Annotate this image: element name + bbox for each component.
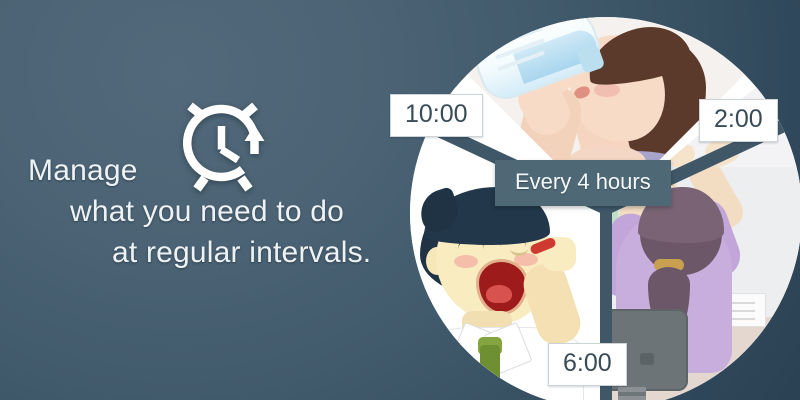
headline-line-2: what you need to do	[0, 191, 400, 232]
time-label-2-00: 2:00	[699, 99, 778, 142]
time-label-10-00: 10:00	[390, 94, 483, 137]
headline-line-3: at regular intervals.	[0, 232, 400, 273]
interval-label: Every 4 hours	[495, 160, 671, 206]
promo-banner: Manage what you need to do at regular in…	[0, 0, 800, 400]
time-label-6-00: 6:00	[548, 343, 627, 386]
alarm-clock-refresh-icon	[172, 92, 276, 196]
